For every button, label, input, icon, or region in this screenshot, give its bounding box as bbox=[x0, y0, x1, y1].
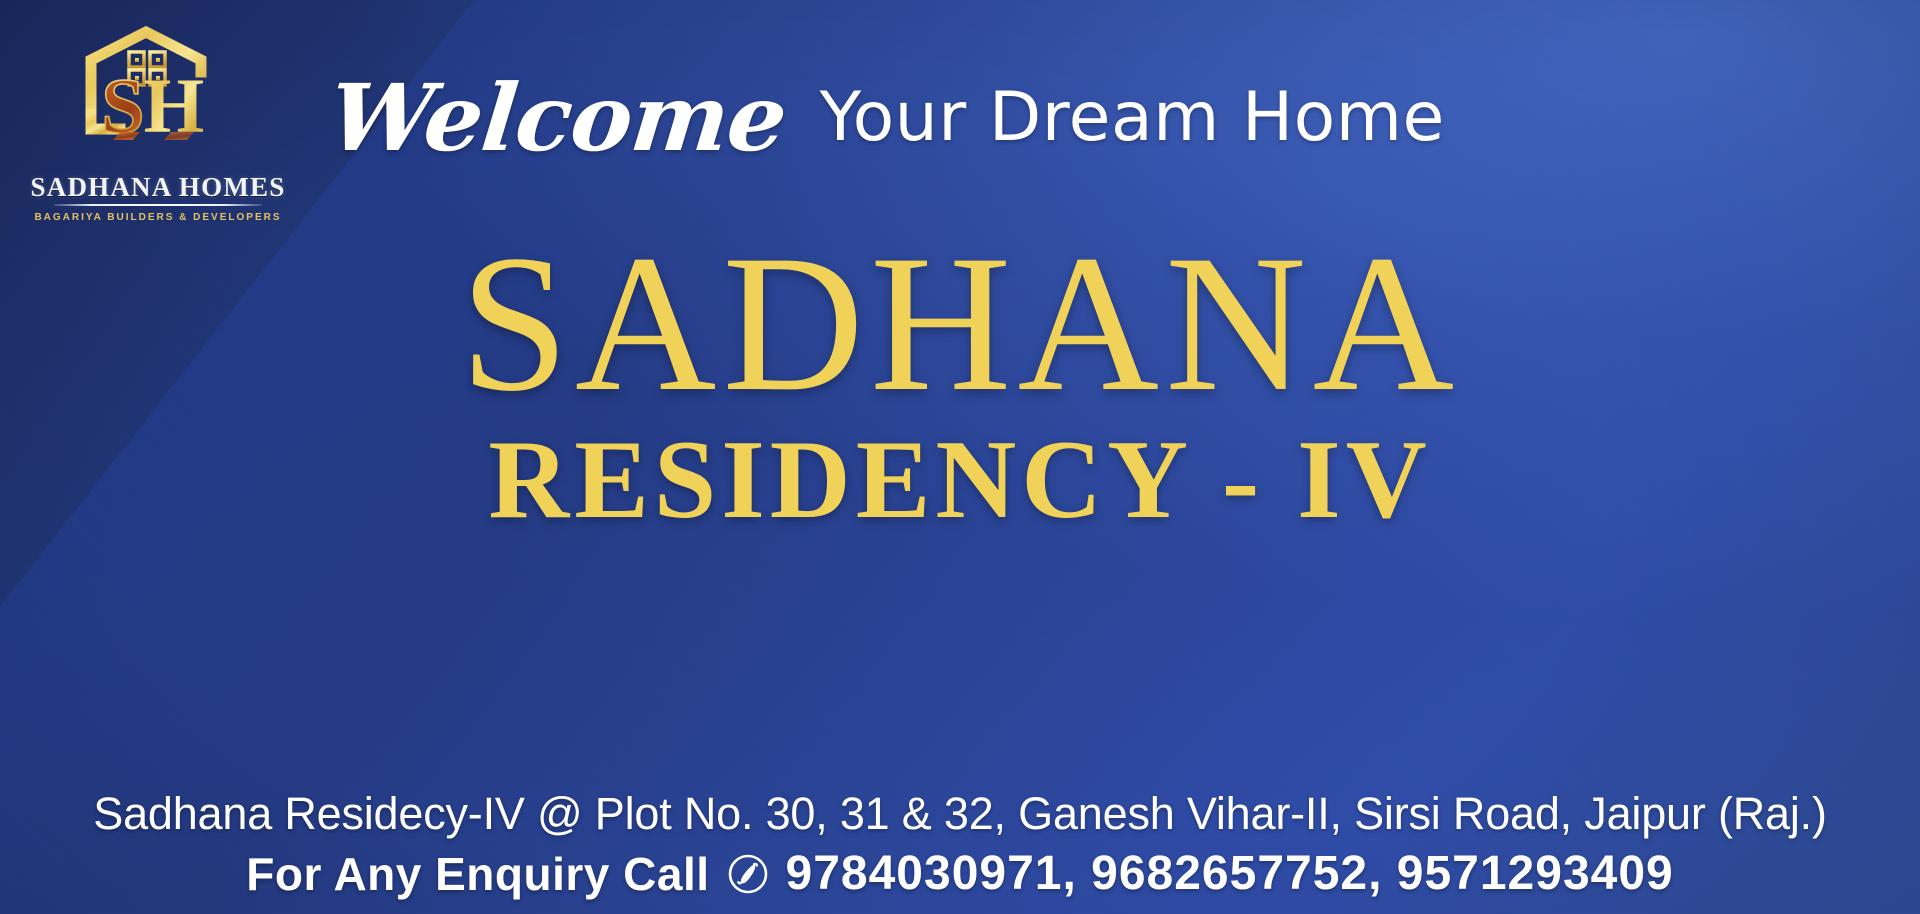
company-logo: S S H SADHANA HOMES BAGARIYA BUILDERS & … bbox=[28, 14, 288, 230]
sh-monogram-icon: S S H bbox=[101, 62, 204, 149]
logo-tagline: BAGARIYA BUILDERS & DEVELOPERS bbox=[28, 212, 288, 223]
footer-block: Sadhana Residecy-IV @ Plot No. 30, 31 & … bbox=[0, 788, 1920, 898]
telephone-icon bbox=[726, 852, 770, 896]
project-name-primary: SADHANA bbox=[0, 230, 1920, 418]
project-address: Sadhana Residecy-IV @ Plot No. 30, 31 & … bbox=[0, 788, 1920, 840]
phone-numbers: 9784030971, 9682657752, 9571293409 bbox=[786, 850, 1674, 898]
house-logo-icon: S S H bbox=[28, 14, 288, 176]
advertisement-banner: S S H SADHANA HOMES BAGARIYA BUILDERS & … bbox=[0, 0, 1920, 914]
project-title-block: SADHANA RESIDENCY - IV bbox=[0, 230, 1920, 536]
logo-company-name: SADHANA HOMES bbox=[28, 174, 288, 201]
enquiry-label: For Any Enquiry Call bbox=[246, 851, 709, 897]
enquiry-contact-row: For Any Enquiry Call 9784030971, 9682657… bbox=[0, 850, 1920, 898]
welcome-subtext: Your Dream Home bbox=[820, 84, 1445, 152]
welcome-heading: Welcome Your Dream Home bbox=[330, 58, 1445, 178]
logo-divider bbox=[54, 204, 262, 206]
welcome-script-word: Welcome bbox=[325, 72, 790, 164]
project-name-secondary: RESIDENCY - IV bbox=[0, 424, 1920, 536]
